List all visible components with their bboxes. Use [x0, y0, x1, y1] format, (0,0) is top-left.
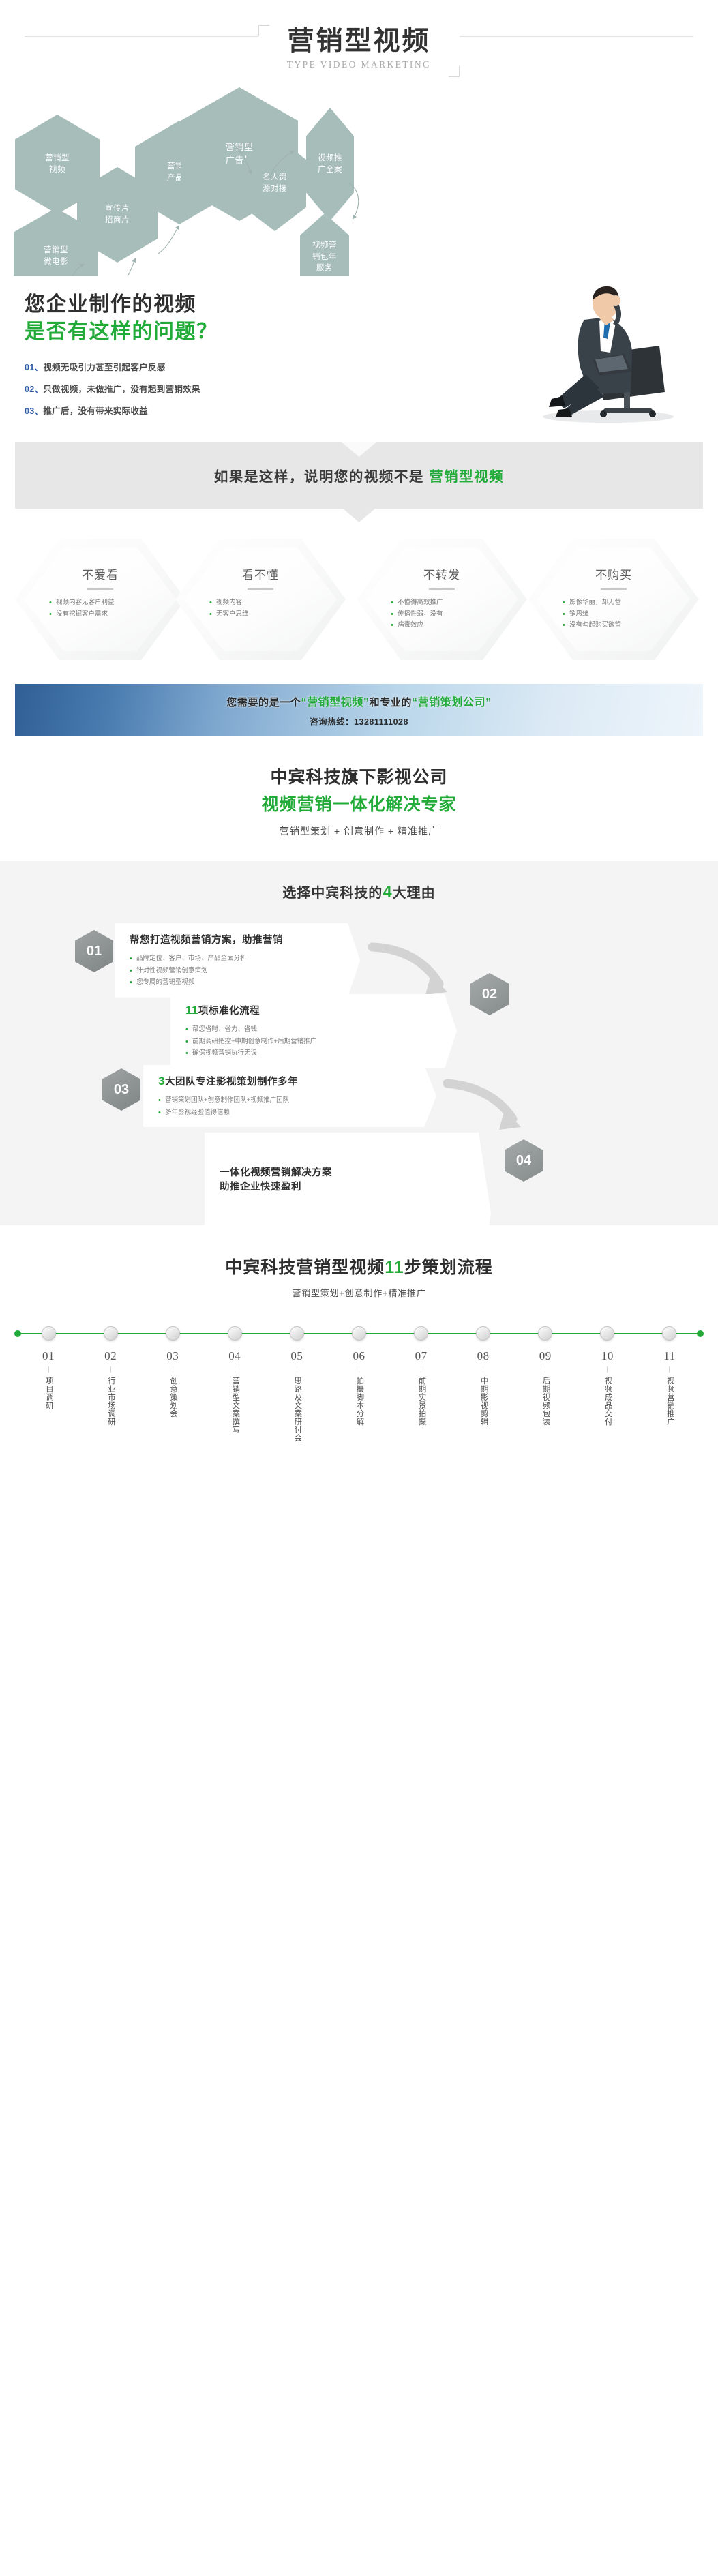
- cta-quote-1: “营销型视频”: [301, 697, 369, 708]
- timeline-tick: [235, 1366, 235, 1373]
- timeline-step-label: 拍摄脚本分解: [353, 1377, 365, 1426]
- ribbon-zone: 如果是这样，说明您的视频不是 营销型视频: [0, 423, 718, 515]
- timeline-items: 01 项目调研 02 行业市场调研 03 创意策划会: [18, 1326, 700, 1446]
- timeline-title-a: 中宾科技营销型视频: [225, 1258, 385, 1277]
- symptom-bullet: 病毒效应: [391, 620, 493, 631]
- timeline-step-number: 02: [85, 1349, 136, 1363]
- timeline-step-number: 06: [333, 1349, 384, 1363]
- symptom-bullets: 不懂得高效推广 传播性弱，没有 病毒效应: [391, 597, 493, 631]
- timeline-dot-icon: [104, 1326, 118, 1341]
- corner-bracket-top-left-icon: [258, 25, 269, 36]
- reason-bullet: 确保视频营销执行无误: [185, 1047, 443, 1060]
- symptom-bullet: 没有勾起购买欲望: [563, 620, 665, 631]
- timeline-step-01[interactable]: 01 项目调研: [23, 1326, 74, 1446]
- symptom-hex-3[interactable]: 不购买 影像华丽，却无营 销思维 没有勾起购买欲望: [528, 539, 699, 660]
- timeline-tick: [359, 1366, 359, 1373]
- symptom-bullet: 影像华丽，却无营: [563, 597, 665, 609]
- timeline-step-label: 项目调研: [42, 1377, 55, 1409]
- symptom-bullet: 视频内容: [209, 597, 312, 609]
- symptom-title: 不购买: [595, 565, 632, 582]
- timeline-step-11[interactable]: 11 视频营销推广: [644, 1326, 695, 1446]
- timeline-tick: [669, 1366, 670, 1373]
- businessman-photo: [497, 272, 702, 425]
- reason-heading-text: 大团队专注影视策划制作多年: [165, 1077, 298, 1088]
- timeline-dot-icon: [414, 1326, 428, 1341]
- company-tagline: 营销型策划 + 创意制作 + 精准推广: [0, 824, 718, 838]
- timeline-dot-icon: [662, 1326, 676, 1341]
- timeline-step-number: 03: [147, 1349, 198, 1363]
- reason-heading-text: 帮您打造视频营销方案，助推营销: [130, 935, 283, 946]
- timeline-dot-icon: [228, 1326, 242, 1341]
- reason-row-4: 一体化视频营销解决方案 助推企业快速盈利 将营销型视频推广至目标客户，快速传播 …: [0, 1133, 718, 1190]
- symptom-bullet: 传播性弱，没有: [391, 609, 493, 620]
- timeline-tick: [110, 1366, 111, 1373]
- timeline-step-07[interactable]: 07 前期实景拍摄: [396, 1326, 447, 1446]
- hex-label-line2: 招商片: [105, 215, 130, 226]
- ribbon-notch-top-icon: [342, 442, 377, 457]
- reason-heading: 11项标准化流程: [185, 1003, 443, 1017]
- problem-item-number: 02、: [25, 385, 43, 394]
- timeline-step-label: 行业市场调研: [104, 1377, 117, 1426]
- landing-page: 营销型视频 TYPE VIDEO MARKETING 营销型 视频 宣传片 招商…: [0, 0, 718, 1551]
- symptom-divider: [601, 588, 627, 590]
- timeline-tick: [607, 1366, 608, 1373]
- reason-bullets: 帮您省时、省力、省钱 前期调研把控+中期创意制作+后期营销推广 确保视频营销执行…: [185, 1023, 443, 1060]
- symptom-title: 看不懂: [242, 565, 279, 582]
- reason-row-2: 11项标准化流程 帮您省时、省力、省钱 前期调研把控+中期创意制作+后期营销推广…: [0, 991, 718, 1056]
- timeline-dot-icon: [600, 1326, 614, 1341]
- hex-label-line2: 微电影: [44, 256, 68, 268]
- timeline-step-number: 11: [644, 1349, 695, 1363]
- company-subtitle: 视频营销一体化解决专家: [0, 791, 718, 815]
- reasons-title: 选择中宾科技的4大理由: [0, 882, 718, 902]
- timeline-step-number: 05: [271, 1349, 322, 1363]
- cta-banner[interactable]: 您需要的是一个“营销型视频”和专业的“营销策划公司” 咨询热线：13281111…: [15, 684, 703, 736]
- problem-item-text: 视频无吸引力甚至引起客户反感: [43, 363, 165, 372]
- timeline-step-03[interactable]: 03 创意策划会: [147, 1326, 198, 1446]
- reason-card-03[interactable]: 3大团队专注影视策划制作多年 营销策划团队+创意制作团队+视频推广团队 多年影视…: [143, 1065, 436, 1127]
- conclusion-ribbon: 如果是这样，说明您的视频不是 营销型视频: [15, 442, 703, 509]
- reason-heading: 3大团队专注影视策划制作多年: [158, 1074, 423, 1088]
- symptom-hex-inner: 不爱看 视频内容无客户利益 没有挖掘客户需求: [24, 548, 177, 651]
- cta-text-a: 您需要的是一个: [226, 697, 301, 708]
- symptom-divider: [248, 588, 273, 590]
- timeline-step-label: 视频营销推广: [663, 1377, 676, 1426]
- timeline-dot-icon: [290, 1326, 304, 1341]
- reason-bullet: 帮您省时、省力、省钱: [185, 1023, 443, 1036]
- symptom-bullet: 视频内容无客户利益: [49, 597, 151, 609]
- symptom-title: 不爱看: [82, 565, 119, 582]
- reason-heading-text: 一体化视频营销解决方案 助推企业快速盈利: [220, 1167, 332, 1193]
- timeline-tick: [545, 1366, 545, 1373]
- problem-item-text: 只做视频，未做推广，没有起到营销效果: [43, 385, 200, 394]
- symptom-title: 不转发: [423, 565, 460, 582]
- symptom-bullet: 无客户思维: [209, 609, 312, 620]
- timeline-step-label: 后期视频包装: [539, 1377, 552, 1426]
- timeline-step-02[interactable]: 02 行业市场调研: [85, 1326, 136, 1446]
- timeline-dot-icon: [42, 1326, 56, 1341]
- reason-bullet: 针对性视频营销创意策划: [130, 965, 346, 977]
- header-title-block: 营销型视频 TYPE VIDEO MARKETING: [258, 25, 460, 78]
- timeline-step-number: 07: [396, 1349, 447, 1363]
- reason-bullets: 营销策划团队+创意制作团队+视频推广团队 多年影视经验值得信赖: [158, 1094, 423, 1118]
- timeline-tick: [421, 1366, 421, 1373]
- timeline-step-number: 09: [520, 1349, 571, 1363]
- hex-label-line3: 服务: [312, 263, 337, 274]
- reasons-section: 选择中宾科技的4大理由 01 帮您打造视频营销方案，助推营销 品牌定位、客户、市…: [0, 861, 718, 1225]
- timeline-tick: [48, 1366, 49, 1373]
- timeline-track: 01 项目调研 02 行业市场调研 03 创意策划会: [0, 1326, 718, 1531]
- timeline-step-number: 10: [582, 1349, 633, 1363]
- problem-item-number: 01、: [25, 363, 43, 372]
- reason-bullet: 营销策划团队+创意制作团队+视频推广团队: [158, 1094, 423, 1107]
- timeline-step-label: 营销型文案撰写: [228, 1377, 241, 1434]
- symptom-hex-1[interactable]: 看不懂 视频内容 无客户思维: [175, 539, 346, 660]
- symptom-divider: [429, 588, 455, 590]
- reason-heading-text: 项标准化流程: [198, 1006, 260, 1017]
- reason-badge-03: 03: [102, 1068, 140, 1111]
- timeline-step-label: 视频成品交付: [601, 1377, 614, 1426]
- company-headline-section: 中宾科技旗下影视公司 视频营销一体化解决专家 营销型策划 + 创意制作 + 精准…: [0, 736, 718, 861]
- hex-label-line1: 视频推: [318, 153, 342, 164]
- hex-label-line2: 源对接: [263, 183, 287, 195]
- timeline-step-05[interactable]: 05 思路及文案研讨会: [271, 1326, 322, 1446]
- page-subtitle: TYPE VIDEO MARKETING: [287, 59, 431, 70]
- symptom-hex-2[interactable]: 不转发 不懂得高效推广 传播性弱，没有 病毒效应: [357, 539, 527, 660]
- problem-item-number: 03、: [25, 406, 43, 416]
- reason-bullet: 多年影视经验值得信赖: [158, 1107, 423, 1119]
- symptom-hex-inner: 看不懂 视频内容 无客户思维: [184, 548, 337, 651]
- reason-badge-01: 01: [75, 930, 113, 972]
- corner-bracket-bottom-right-icon: [449, 66, 460, 77]
- timeline-title-b: 步策划流程: [404, 1258, 493, 1277]
- symptom-bullets: 影像华丽，却无营 销思维 没有勾起购买欲望: [563, 597, 665, 631]
- problem-heading-dark: 您企业制作的视频: [25, 293, 196, 316]
- reason-card-02[interactable]: 11项标准化流程 帮您省时、省力、省钱 前期调研把控+中期创意制作+后期营销推广…: [170, 994, 457, 1068]
- reason-bullet: 您专属的营销型视频: [130, 976, 346, 989]
- timeline-step-number: 08: [458, 1349, 509, 1363]
- cta-text-b: 和专业的: [370, 697, 412, 708]
- reason-heading: 帮您打造视频营销方案，助推营销: [130, 932, 346, 946]
- page-title: 营销型视频: [287, 28, 431, 56]
- symptom-bullets: 视频内容 无客户思维: [209, 597, 312, 620]
- timeline-step-09[interactable]: 09 后期视频包装: [520, 1326, 571, 1446]
- timeline-subtitle: 营销型策划+创意制作+精准推广: [0, 1286, 718, 1299]
- symptom-bullet: 没有挖掘客户需求: [49, 609, 151, 620]
- hex-label-line1: 名人资: [263, 172, 287, 183]
- hex-label-line1: 营销型: [226, 141, 254, 154]
- reason-heading-number: 11: [185, 1004, 198, 1017]
- hex-label-line2: 广全案: [318, 164, 342, 176]
- timeline-step-label: 中期影视剪辑: [477, 1377, 490, 1426]
- timeline-title: 中宾科技营销型视频11步策划流程: [0, 1254, 718, 1278]
- service-hexagon-cluster: 营销型 视频 宣传片 招商片 营销型 微电影 营销型 产品片 营销型: [0, 102, 718, 276]
- timeline-tick: [173, 1366, 173, 1373]
- reason-connector-3-icon: [443, 1077, 525, 1135]
- reasons-title-b: 大理由: [393, 886, 436, 901]
- symptom-bullets: 视频内容无客户利益 没有挖掘客户需求: [49, 597, 151, 620]
- cta-zone: 您需要的是一个“营销型视频”和专业的“营销策划公司” 咨询热线：13281111…: [0, 666, 718, 736]
- ribbon-text: 如果是这样，说明您的视频不是 营销型视频: [214, 465, 504, 485]
- symptom-hex-0[interactable]: 不爱看 视频内容无客户利益 没有挖掘客户需求: [15, 539, 185, 660]
- timeline-title-number: 11: [385, 1258, 404, 1277]
- timeline-step-04[interactable]: 04 营销型文案撰写: [209, 1326, 260, 1446]
- reason-bullets: 品牌定位、客户、市场、产品全面分析 针对性视频营销创意策划 您专属的营销型视频: [130, 953, 346, 989]
- ribbon-highlight: 营销型视频: [429, 469, 504, 485]
- hex-label-line2: 视频: [45, 164, 70, 176]
- ribbon-prefix: 如果是这样，说明您的视频不是: [214, 469, 429, 485]
- hex-label-line1: 视频营: [312, 240, 337, 252]
- timeline-tick: [297, 1366, 297, 1373]
- hex-label-line1: 营销型: [45, 153, 70, 164]
- hex-label-line1: 宣传片: [105, 203, 130, 215]
- reason-bullet: 品牌定位、客户、市场、产品全面分析: [130, 953, 346, 965]
- reason-badge-04: 04: [505, 1139, 543, 1182]
- timeline-dot-icon: [352, 1326, 366, 1341]
- timeline-dot-icon: [538, 1326, 552, 1341]
- cta-quote-2: “营销策划公司”: [412, 697, 492, 708]
- symptom-bullet: 不懂得高效推广: [391, 597, 493, 609]
- timeline-step-06[interactable]: 06 拍摄脚本分解: [333, 1326, 384, 1446]
- symptom-hex-inner: 不购买 影像华丽，却无营 销思维 没有勾起购买欲望: [537, 548, 690, 651]
- timeline-section: 中宾科技营销型视频11步策划流程 营销型策划+创意制作+精准推广 01 项目调研…: [0, 1225, 718, 1551]
- hex-service-5[interactable]: 视频推 广全案: [306, 108, 354, 221]
- reason-heading-number: 3: [158, 1075, 165, 1088]
- reason-bullet: 前期调研把控+中期创意制作+后期营销推广: [185, 1036, 443, 1048]
- cta-line-1: 您需要的是一个“营销型视频”和专业的“营销策划公司”: [226, 693, 492, 709]
- reasons-title-a: 选择中宾科技的: [282, 886, 383, 901]
- timeline-step-number: 04: [209, 1349, 260, 1363]
- reason-card-01[interactable]: 帮您打造视频营销方案，助推营销 品牌定位、客户、市场、产品全面分析 针对性视频营…: [115, 923, 360, 998]
- cta-hotline: 咨询热线：13281111028: [310, 715, 408, 728]
- symptom-hexagon-row: 不爱看 视频内容无客户利益 没有挖掘客户需求 看不懂 视频内容 无客户思维 不转: [0, 533, 718, 666]
- timeline-step-number: 01: [23, 1349, 74, 1363]
- timeline-step-label: 思路及文案研讨会: [290, 1377, 303, 1442]
- timeline-step-10[interactable]: 10 视频成品交付: [582, 1326, 633, 1446]
- reasons-title-number: 4: [383, 883, 392, 901]
- symptom-hex-inner: 不转发 不懂得高效推广 传播性弱，没有 病毒效应: [365, 548, 518, 651]
- timeline-step-label: 创意策划会: [166, 1377, 179, 1418]
- timeline-dot-icon: [166, 1326, 180, 1341]
- page-header: 营销型视频 TYPE VIDEO MARKETING: [0, 0, 718, 102]
- timeline-step-08[interactable]: 08 中期影视剪辑: [458, 1326, 509, 1446]
- ribbon-notch-bottom-icon: [342, 507, 377, 522]
- problem-item-text: 推广后，没有带来实际收益: [43, 406, 148, 416]
- symptom-bullet: 销思维: [563, 609, 665, 620]
- hex-label-line1: 营销型: [44, 245, 68, 256]
- timeline-tick: [483, 1366, 483, 1373]
- timeline-step-label: 前期实景拍摄: [415, 1377, 428, 1426]
- company-title: 中宾科技旗下影视公司: [0, 764, 718, 788]
- reason-row-1: 01 帮您打造视频营销方案，助推营销 品牌定位、客户、市场、产品全面分析 针对性…: [0, 920, 718, 985]
- reason-row-3: 03 3大团队专注影视策划制作多年 营销策划团队+创意制作团队+视频推广团队 多…: [0, 1062, 718, 1127]
- reason-heading: 一体化视频营销解决方案 助推企业快速盈利: [220, 1154, 477, 1193]
- symptom-divider: [87, 588, 113, 590]
- hex-label-line2: 销包年: [312, 252, 337, 263]
- problem-section: 您企业制作的视频 是否有这样的问题？ 01、视频无吸引力甚至引起客户反感 02、…: [0, 276, 718, 423]
- timeline-dot-icon: [476, 1326, 490, 1341]
